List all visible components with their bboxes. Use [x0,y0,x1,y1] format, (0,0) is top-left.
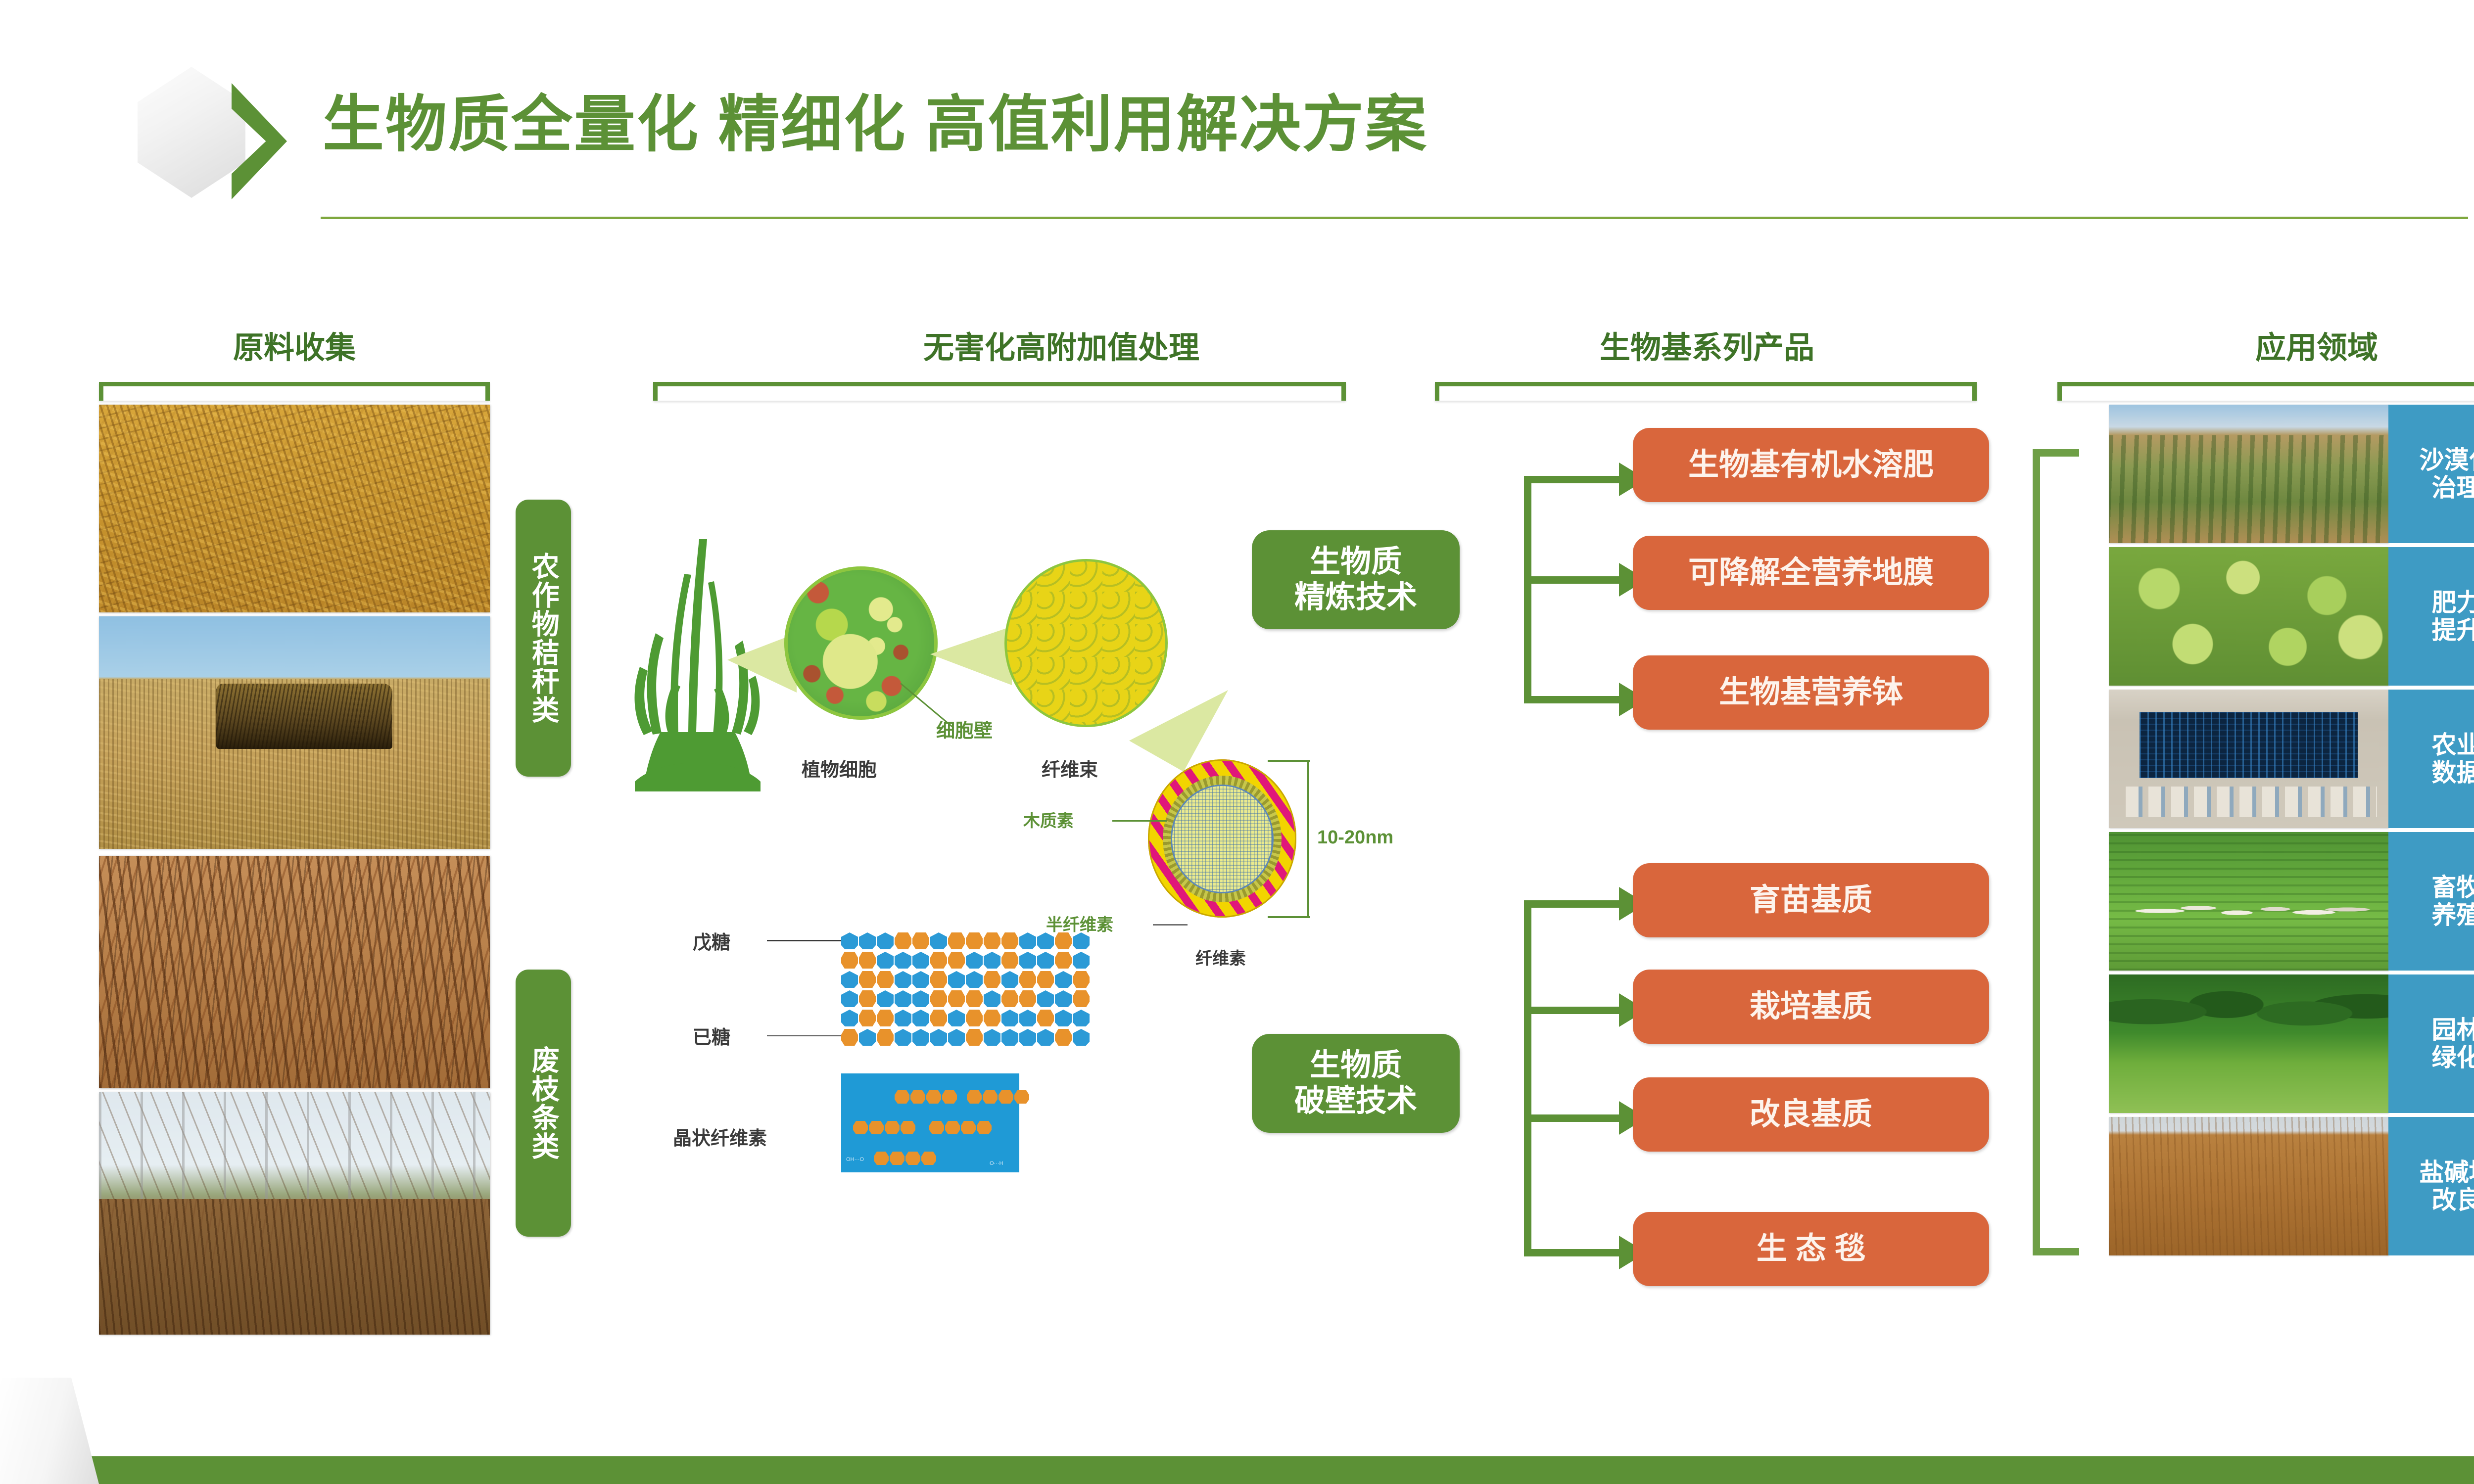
section-bracket-process [653,382,1346,401]
section-bracket-product [1435,382,1977,401]
product-box-ecological-blanket[interactable]: 生 态 毯 [1633,1212,1989,1286]
flow2-arm-1 [1524,900,1625,908]
label-hemicellulose: 半纤维素 [1046,911,1113,935]
dimension-cap-bottom [1268,916,1310,918]
photo-sheep-pasture [2109,832,2388,971]
raw-category-waste-branch[interactable]: 废枝条类 [516,970,571,1237]
application-tag-fertility: 肥力提升 [2388,547,2474,686]
application-row-desertification[interactable]: 沙漠化治理 [2109,405,2474,543]
zoom-beam-cell-to-fiber [930,623,1012,685]
dimension-line [1307,760,1309,918]
flow1-arm-1 [1524,476,1625,483]
section-label-raw: 原料收集 [99,323,490,367]
label-crystalline-cellulose: 晶状纤维素 [673,1123,767,1150]
product-box-seedling-substrate[interactable]: 育苗基质 [1633,863,1989,937]
cellulose-core [1171,785,1274,893]
product-box-nutrient-pot[interactable]: 生物基营养钵 [1633,655,1989,730]
label-cellulose: 纤维素 [1195,945,1246,969]
section-bracket-raw [99,382,490,401]
tech-box-wall-breaking-label: 生物质破壁技术 [1294,1048,1417,1119]
hexagon-badge-icon [138,67,245,198]
application-row-agridata[interactable]: 农业数据 [2109,690,2474,828]
application-tag-landscaping: 园林绿化 [2388,974,2474,1113]
flow2-arm-3 [1524,1114,1625,1122]
label-cell-wall: 细胞壁 [936,715,993,742]
photo-cabbage-field [2109,547,2388,686]
application-tag-agridata: 农业数据 [2388,690,2474,828]
product-box-biodegradable-mulch-film[interactable]: 可降解全营养地膜 [1633,536,1989,610]
footer-wedge-decoration [0,1378,99,1484]
page-header: 生物质全量化 精细化 高值利用解决方案 [0,0,2474,232]
product-box-water-soluble-fertilizer[interactable]: 生物基有机水溶肥 [1633,428,1989,502]
photo-park-trees [2109,974,2388,1113]
label-lignin: 木质素 [1023,807,1074,832]
section-label-apps: 应用领域 [2109,323,2474,367]
label-dimension: 10-20nm [1317,827,1393,848]
label-hexose: 已糖 [693,1022,730,1049]
photo-desert-restoration [2109,405,2388,543]
tech-box-refining[interactable]: 生物质精炼技术 [1252,530,1460,629]
application-tag-saline-alkali: 盐碱地改良 [2388,1117,2474,1255]
flow2-arm-2 [1524,1007,1625,1014]
application-bracket [2033,449,2079,1255]
product-box-cultivation-substrate[interactable]: 栽培基质 [1633,970,1989,1044]
application-row-landscaping[interactable]: 园林绿化 [2109,974,2474,1113]
sugar-chain-diagram [841,932,1188,1049]
flow2-trunk [1524,900,1531,1256]
application-row-livestock[interactable]: 畜牧养殖 [2109,832,2474,971]
label-pentose: 戊糖 [693,927,730,954]
section-bracket-apps [2057,382,2474,401]
product-box-improvement-substrate[interactable]: 改良基质 [1633,1077,1989,1152]
photo-bare-branches [99,856,490,1088]
title-divider [321,217,2468,219]
application-row-fertility[interactable]: 肥力提升 [2109,547,2474,686]
application-column: 沙漠化治理 肥力提升 农业数据 畜牧养殖 园林绿化 盐碱地改良 [2109,405,2474,1345]
flow2-arm-4 [1524,1249,1625,1256]
pentose-leader-line [767,940,841,941]
application-row-saline-alkali[interactable]: 盐碱地改良 [2109,1117,2474,1255]
crystal-annotation-left: OH···O [846,1157,864,1162]
tech-box-wall-breaking[interactable]: 生物质破壁技术 [1252,1034,1460,1133]
footer-band [0,1456,2474,1484]
application-tag-desertification: 沙漠化治理 [2388,405,2474,543]
hemicellulose-leader-line [1153,924,1188,926]
dimension-cap-top [1268,760,1310,762]
flow1-arm-3 [1524,696,1625,703]
photo-saline-alkali-soil [2109,1117,2388,1255]
page-title: 生物质全量化 精细化 高值利用解决方案 [323,94,1428,155]
lignin-leader-line [1112,820,1167,822]
photo-orchard-pruned-branches [99,1092,490,1335]
raw-material-column [99,405,490,1335]
section-label-process: 无害化高附加值处理 [609,323,1514,367]
section-label-product: 生物基系列产品 [1435,323,1979,367]
flow1-arm-2 [1524,576,1625,584]
application-tag-livestock: 畜牧养殖 [2388,832,2474,971]
fiber-bundle-illustration [1004,559,1168,727]
plant-cell-illustration [784,566,938,720]
crystalline-cellulose-panel: OH···O O···H [841,1073,1019,1172]
label-plant-cell: 植物细胞 [802,754,877,782]
crystal-annotation-right: O···H [990,1160,1003,1166]
label-fiber-bundle: 纤维束 [1042,754,1098,782]
raw-category-crop-straw[interactable]: 农作物秸秆类 [516,500,571,777]
photo-dried-corn-stalk-field [99,405,490,612]
photo-data-control-room [2109,690,2388,828]
tech-box-refining-label: 生物质精炼技术 [1294,544,1417,615]
photo-straw-bale-field [99,616,490,849]
flow1-trunk [1524,476,1531,703]
hexose-leader-line [767,1035,841,1036]
